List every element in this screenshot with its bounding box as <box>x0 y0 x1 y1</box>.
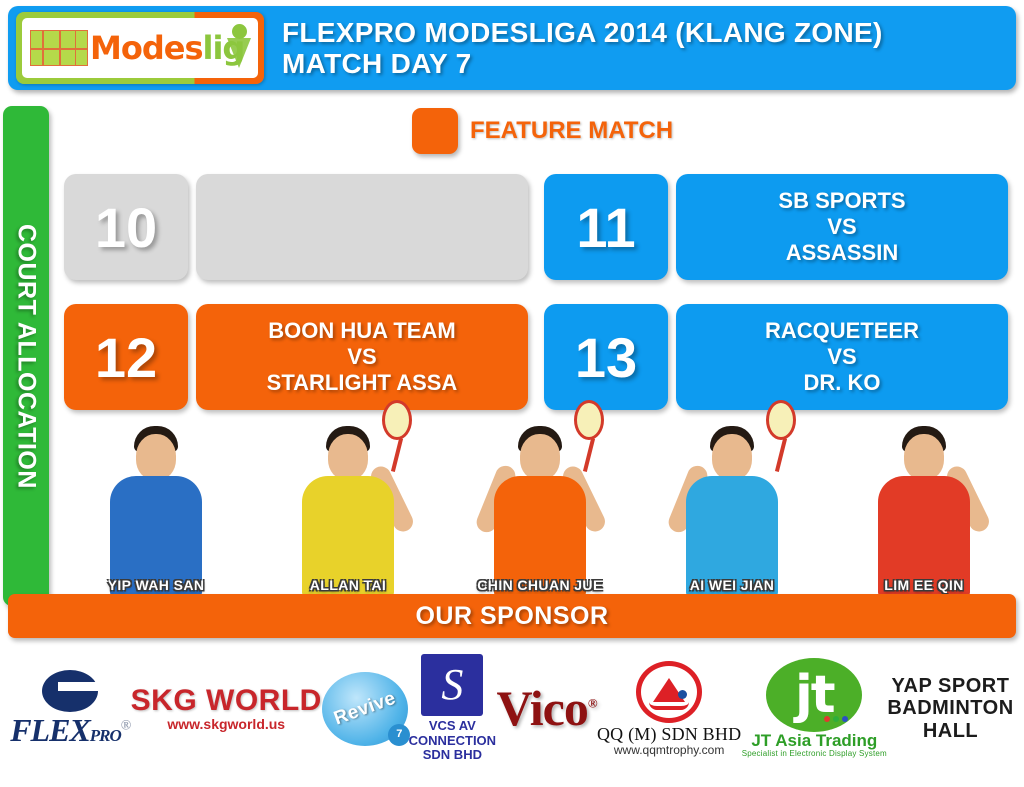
player-card-2: ALLAN TAI <box>252 398 444 598</box>
jt-mark-text: jt <box>795 672 834 719</box>
title-line-2: MATCH DAY 7 <box>282 48 883 79</box>
court-row-1: 10 11 SB SPORTS VS ASSASSIN <box>64 174 1008 280</box>
court-number-13: 13 <box>544 304 668 410</box>
player-card-5: LIM EE QIN <box>828 398 1020 598</box>
modesliga-logo: Modeslig <box>16 12 264 84</box>
player-card-4: AI WEI JIAN <box>636 398 828 598</box>
flexpro-wordmark: FLEXPRO® <box>10 714 130 748</box>
sponsor-logo-revive[interactable]: Revive 7 <box>322 672 408 746</box>
jt-name: JT Asia Trading <box>742 732 887 750</box>
badminton-court-icon <box>30 30 88 66</box>
court-card-12[interactable]: 12 BOON HUA TEAM VS STARLIGHT ASSA <box>64 304 528 410</box>
player-card-3: CHIN CHUAN JUE <box>444 398 636 598</box>
qq-name: QQ (M) SDN BHD <box>597 725 741 744</box>
logo-inner: Modeslig <box>22 18 258 78</box>
flexpro-mark-icon <box>42 670 98 712</box>
flexpro-sub: PRO <box>90 726 121 745</box>
team-a-13: RACQUETEER <box>765 318 919 344</box>
court-card-10[interactable]: 10 <box>64 174 528 280</box>
player-photo-4 <box>676 412 788 598</box>
revive-circle-icon: Revive 7 <box>322 672 408 746</box>
poster-stage: Modeslig FLEXPRO MODESLIGA 2014 (KLANG Z… <box>0 0 1024 787</box>
feature-match-legend: FEATURE MATCH <box>412 108 673 154</box>
player-head-icon <box>136 434 176 480</box>
court-card-11[interactable]: 11 SB SPORTS VS ASSASSIN <box>544 174 1008 280</box>
player-photo-strip: YIP WAH SAN ALLAN TAI CHIN CHUAN JUE <box>60 398 1020 598</box>
player-photo-2 <box>292 412 404 598</box>
player-name-4: AI WEI JIAN <box>636 577 828 594</box>
court-matchup-12: BOON HUA TEAM VS STARLIGHT ASSA <box>196 304 528 410</box>
vs-11: VS <box>827 214 856 240</box>
player-photo-1 <box>100 412 212 598</box>
shuttlecock-icon <box>226 24 252 70</box>
feature-match-swatch <box>412 108 458 154</box>
revive-badge: 7 <box>388 724 410 746</box>
team-b-13: DR. KO <box>804 370 881 396</box>
player-card-1: YIP WAH SAN <box>60 398 252 598</box>
our-sponsor-bar: OUR SPONSOR <box>8 594 1016 638</box>
sponsor-logo-flexpro[interactable]: FLEXPRO® <box>10 670 130 748</box>
sponsor-logo-yapsport[interactable]: YAP SPORT BADMINTON HALL <box>887 675 1013 742</box>
flexpro-name: FLEX <box>10 712 90 748</box>
court-row-2: 12 BOON HUA TEAM VS STARLIGHT ASSA 13 RA… <box>64 304 1008 410</box>
revive-name: Revive <box>332 688 399 729</box>
sponsor-logo-jt[interactable]: jt JT Asia Trading Specialist in Electro… <box>742 658 887 758</box>
logo-word-modes: Modes <box>90 29 202 67</box>
skgworld-name: SKG WORLD <box>131 685 322 717</box>
player-photo-5 <box>868 412 980 598</box>
sponsor-logo-skgworld[interactable]: SKG WORLD www.skgworld.us <box>131 685 322 731</box>
court-number-12: 12 <box>64 304 188 410</box>
team-b-11: ASSASSIN <box>786 240 898 266</box>
feature-match-label: FEATURE MATCH <box>470 117 673 145</box>
team-b-12: STARLIGHT ASSA <box>267 370 458 396</box>
court-matchup-10 <box>196 174 528 280</box>
racket-icon <box>574 400 604 446</box>
player-head-icon <box>328 434 368 480</box>
vcs-mark-icon: S <box>421 654 483 716</box>
racket-icon <box>382 400 412 446</box>
sponsor-logo-qq[interactable]: QQ (M) SDN BHD www.qqmtrophy.com <box>597 661 741 756</box>
sponsor-logo-vico[interactable]: Vico® <box>496 682 596 735</box>
vcs-name: VCS AV CONNECTION SDN BHD <box>409 719 496 763</box>
jt-dots-icon <box>824 716 848 722</box>
court-matchup-13: RACQUETEER VS DR. KO <box>676 304 1008 410</box>
skgworld-url: www.skgworld.us <box>131 717 322 732</box>
player-name-3: CHIN CHUAN JUE <box>444 577 636 594</box>
title-line-1: FLEXPRO MODESLIGA 2014 (KLANG ZONE) <box>282 17 883 48</box>
racket-icon <box>766 400 796 446</box>
qq-mark-icon <box>636 661 702 723</box>
vico-reg-icon: ® <box>588 696 597 711</box>
yapsport-name: YAP SPORT BADMINTON HALL <box>887 675 1013 742</box>
player-photo-3 <box>484 412 596 598</box>
player-head-icon <box>520 434 560 480</box>
team-a-11: SB SPORTS <box>778 188 905 214</box>
vs-13: VS <box>827 344 856 370</box>
page-header: Modeslig FLEXPRO MODESLIGA 2014 (KLANG Z… <box>8 6 1016 90</box>
sponsor-logo-row: FLEXPRO® SKG WORLD www.skgworld.us Reviv… <box>0 646 1024 771</box>
vico-name: Vico <box>496 680 587 736</box>
court-allocation-label: COURT ALLOCATION <box>12 224 41 489</box>
player-head-icon <box>904 434 944 480</box>
sponsor-logo-vcs[interactable]: S VCS AV CONNECTION SDN BHD <box>409 654 496 763</box>
qq-url: www.qqmtrophy.com <box>597 744 741 757</box>
court-number-10: 10 <box>64 174 188 280</box>
player-head-icon <box>712 434 752 480</box>
player-name-2: ALLAN TAI <box>252 577 444 594</box>
court-card-13[interactable]: 13 RACQUETEER VS DR. KO <box>544 304 1008 410</box>
jt-mark-icon: jt <box>766 658 862 732</box>
court-allocation-grid: 10 11 SB SPORTS VS ASSASSIN 12 <box>64 174 1008 434</box>
page-title: FLEXPRO MODESLIGA 2014 (KLANG ZONE) MATC… <box>282 17 883 80</box>
jt-tagline: Specialist in Electronic Display System <box>742 750 887 758</box>
vs-12: VS <box>347 344 376 370</box>
court-number-11: 11 <box>544 174 668 280</box>
logo-wordmark: Modeslig <box>90 32 244 64</box>
team-a-12: BOON HUA TEAM <box>268 318 455 344</box>
player-name-1: YIP WAH SAN <box>60 577 252 594</box>
player-name-5: LIM EE QIN <box>828 577 1020 594</box>
court-allocation-sidebar: COURT ALLOCATION <box>3 106 49 606</box>
court-matchup-11: SB SPORTS VS ASSASSIN <box>676 174 1008 280</box>
vico-wordmark: Vico® <box>496 682 596 735</box>
flexpro-reg-icon: ® <box>121 718 130 733</box>
